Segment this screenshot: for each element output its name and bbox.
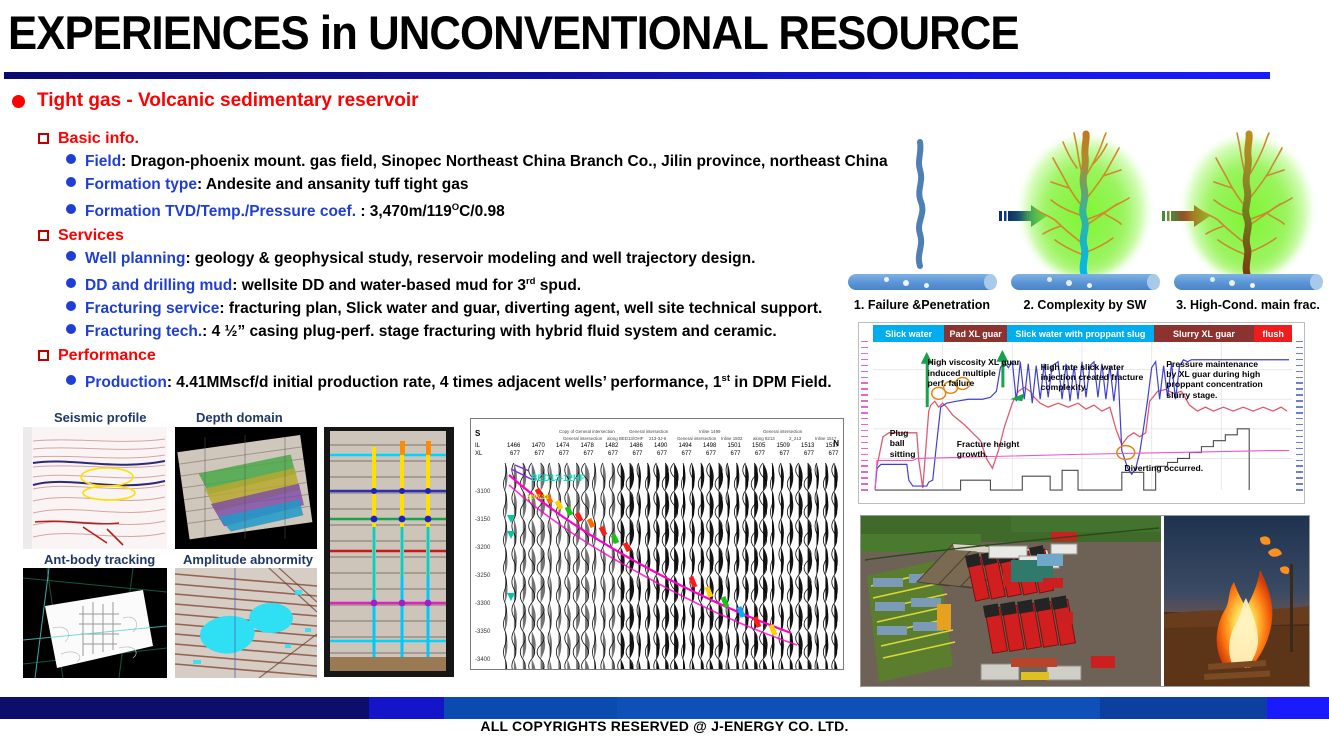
outline-item-1-1: DD and drilling mud: wellsite DD and wat…: [66, 272, 870, 295]
square-bullet-icon: [38, 350, 49, 361]
axis-tick: [861, 371, 868, 372]
frac-stage-2-caption: 2. Complexity by SW: [1009, 298, 1161, 312]
axis-tick: [1296, 454, 1303, 455]
footer-bar-segment-3: [617, 697, 1101, 719]
axis-tick: [1296, 347, 1303, 348]
outline-item-1-2: Fracturing service: fracturing plan, Sli…: [66, 299, 870, 318]
stage-band-2: Slick water with proppant slug: [1007, 325, 1154, 342]
chart-left-axis: [861, 341, 872, 493]
slide-root: EXPERIENCES in UNCONVENTIONAL RESOURCE T…: [0, 0, 1329, 739]
axis-tick: [861, 412, 868, 413]
chart-plot-area: High viscosity XL guarinduced multiplepe…: [873, 342, 1292, 493]
outline-section-label: Performance: [58, 347, 156, 365]
outline-item-0-1: Formation type: Andesite and ansanity tu…: [66, 175, 870, 194]
axis-tick: [861, 448, 868, 449]
axis-tick: [1296, 442, 1303, 443]
footer-bar-segment-1: [369, 697, 443, 719]
round-bullet-icon: [66, 278, 76, 288]
square-bullet-icon: [38, 230, 49, 241]
photo-frac-fleet-aerial: [861, 516, 1161, 686]
thumb-depth-domain: [175, 427, 317, 549]
stage-band-4: flush: [1254, 325, 1292, 342]
axis-tick: [1296, 418, 1303, 419]
casing-pipe-3: [1174, 274, 1322, 290]
frac-stage-3-caption: 3. High-Cond. main frac.: [1172, 298, 1324, 312]
axis-tick: [861, 359, 868, 360]
photo-gas-flare: [1164, 516, 1309, 686]
chart-right-axis: [1292, 341, 1303, 493]
seismic-section-panel: S N IL XL 146667714706771474677147867714…: [470, 418, 844, 670]
axis-tick: [1296, 353, 1303, 354]
axis-tick: [861, 460, 868, 461]
axis-tick: [861, 388, 868, 389]
chart-annotation-3: Plugballsitting: [890, 428, 916, 459]
title-divider: [4, 72, 1270, 79]
outline-item-text: Fracturing service: fracturing plan, Sli…: [85, 299, 822, 318]
axis-tick: [1296, 359, 1303, 360]
axis-tick: [861, 394, 868, 395]
axis-tick: [1296, 430, 1303, 431]
axis-tick: [861, 442, 868, 443]
footer-bar-segment-5: [1267, 697, 1329, 719]
axis-tick: [1296, 412, 1303, 413]
seismic-depth-tag: 3097.33: [527, 495, 549, 501]
frac-stage-1-caption: 1. Failure &Penetration: [846, 298, 998, 312]
axis-tick: [861, 454, 868, 455]
high-conductivity-fracture-icon: [1172, 124, 1324, 290]
axis-tick: [861, 365, 868, 366]
topic-heading-label: Tight gas - Volcanic sedimentary reservo…: [37, 90, 419, 112]
single-fracture-icon: [846, 124, 998, 290]
stage-band-0: Slick water: [873, 325, 944, 342]
thumb-ant-body-tracking: [23, 568, 167, 678]
page-title: EXPERIENCES in UNCONVENTIONAL RESOURCE: [8, 6, 938, 62]
axis-tick: [1296, 371, 1303, 372]
axis-tick: [1296, 341, 1303, 342]
axis-tick: [1296, 436, 1303, 437]
axis-tick: [861, 353, 868, 354]
thumb-seismic-profile: [23, 427, 167, 549]
axis-tick: [1296, 394, 1303, 395]
site-photos: [860, 515, 1310, 687]
thumb-3d-well-panel: [324, 427, 454, 677]
outline-item-text: Formation TVD/Temp./Pressure coef. : 3,4…: [85, 198, 505, 221]
chart-annotation-2: Pressure maintenanceby XL guar during hi…: [1166, 359, 1262, 401]
outline-item-1-3: Fracturing tech.: 4 ½” casing plug-perf.…: [66, 322, 870, 341]
axis-tick: [861, 430, 868, 431]
axis-tick: [861, 382, 868, 383]
square-bullet-icon: [38, 133, 49, 144]
thumb-caption-ant-body: Ant-body tracking: [44, 552, 155, 567]
round-bullet-icon: [66, 251, 76, 261]
axis-tick: [861, 377, 868, 378]
axis-tick: [861, 436, 868, 437]
treatment-pressure-chart: Slick waterPad XL guarSlick water with p…: [858, 322, 1305, 504]
axis-tick: [861, 406, 868, 407]
topic-heading: Tight gas - Volcanic sedimentary reservo…: [12, 90, 419, 112]
axis-tick: [861, 400, 868, 401]
thumb-caption-amplitude: Amplitude abnormity: [183, 552, 313, 567]
axis-tick: [861, 424, 868, 425]
chart-annotation-5: Diverting occurred.: [1124, 463, 1203, 473]
chart-annotation-1: High rate slick waterinjection created f…: [1041, 362, 1144, 393]
thumb-caption-seismic-profile: Seismic profile: [54, 410, 146, 425]
content-outline: Basic info.Field: Dragon-phoenix mount. …: [0, 128, 870, 396]
outline-item-2-0: Production: 4.41MMscf/d initial producti…: [66, 369, 870, 392]
axis-tick: [1296, 388, 1303, 389]
stage-band-3: Slurry XL guar: [1154, 325, 1255, 342]
casing-pipe-1: [848, 274, 996, 290]
thumb-caption-depth-domain: Depth domain: [196, 410, 283, 425]
axis-tick: [861, 483, 868, 484]
footer-bar-segment-4: [1100, 697, 1266, 719]
axis-tick: [1296, 460, 1303, 461]
round-bullet-icon: [66, 324, 76, 334]
footer-copyright: ALL COPYRIGHTS RESERVED @ J-ENERGY CO. L…: [0, 718, 1329, 734]
axis-tick: [1296, 377, 1303, 378]
thumb-amplitude-abnormity: [175, 568, 317, 678]
axis-tick: [1296, 424, 1303, 425]
frac-stage-1: 1. Failure &Penetration: [846, 124, 998, 312]
axis-tick: [1296, 465, 1303, 466]
outline-item-0-0: Field: Dragon-phoenix mount. gas field, …: [66, 152, 870, 171]
chart-stage-bands: Slick waterPad XL guarSlick water with p…: [873, 325, 1292, 342]
axis-tick: [861, 477, 868, 478]
seismic-well-label: BED13-12HF: [531, 473, 586, 483]
footer-bar-segment-2: [444, 697, 617, 719]
outline-item-text: Production: 4.41MMscf/d initial producti…: [85, 369, 832, 392]
axis-tick: [861, 471, 868, 472]
bullet-dot-icon: [12, 95, 25, 108]
complex-fracture-network-icon: [1009, 124, 1161, 290]
round-bullet-icon: [66, 204, 76, 214]
round-bullet-icon: [66, 177, 76, 187]
round-bullet-icon: [66, 154, 76, 164]
outline-item-1-0: Well planning: geology & geophysical stu…: [66, 249, 870, 268]
axis-tick: [1296, 477, 1303, 478]
outline-item-text: DD and drilling mud: wellsite DD and wat…: [85, 272, 581, 295]
round-bullet-icon: [66, 301, 76, 311]
fracture-evolution-diagram: 1. Failure &Penetration: [846, 124, 1324, 312]
outline-item-text: Field: Dragon-phoenix mount. gas field, …: [85, 152, 888, 171]
axis-tick: [1296, 471, 1303, 472]
axis-tick: [861, 341, 868, 342]
outline-item-text: Fracturing tech.: 4 ½” casing plug-perf.…: [85, 322, 777, 341]
outline-section-2: Performance: [38, 345, 870, 366]
outline-section-label: Basic info.: [58, 130, 139, 148]
axis-tick: [1296, 406, 1303, 407]
axis-tick: [1296, 489, 1303, 490]
outline-item-text: Well planning: geology & geophysical stu…: [85, 249, 755, 268]
axis-tick: [1296, 382, 1303, 383]
chart-annotation-0: High viscosity XL guarinduced multiplepe…: [927, 357, 1020, 388]
outline-item-0-2: Formation TVD/Temp./Pressure coef. : 3,4…: [66, 198, 870, 221]
chart-annotation-4: Fracture heightgrowth.: [957, 439, 1020, 460]
frac-stage-3: 3. High-Cond. main frac.: [1172, 124, 1324, 312]
axis-tick: [861, 465, 868, 466]
footer-bar-slant: [0, 697, 200, 719]
axis-tick: [1296, 448, 1303, 449]
axis-tick: [1296, 483, 1303, 484]
axis-tick: [1296, 365, 1303, 366]
outline-section-0: Basic info.: [38, 128, 870, 149]
footer-bar: [0, 697, 1329, 719]
outline-section-1: Services: [38, 225, 870, 246]
casing-pipe-2: [1011, 274, 1159, 290]
outline-section-label: Services: [58, 227, 124, 245]
axis-tick: [1296, 400, 1303, 401]
axis-tick: [861, 418, 868, 419]
frac-stage-2: 2. Complexity by SW: [1009, 124, 1161, 312]
outline-item-text: Formation type: Andesite and ansanity tu…: [85, 175, 469, 194]
seismic-wiggle-traces: BED13-12HF 3097.33: [471, 419, 844, 670]
axis-tick: [861, 489, 868, 490]
stage-band-1: Pad XL guar: [944, 325, 1007, 342]
round-bullet-icon: [66, 375, 76, 385]
axis-tick: [861, 347, 868, 348]
